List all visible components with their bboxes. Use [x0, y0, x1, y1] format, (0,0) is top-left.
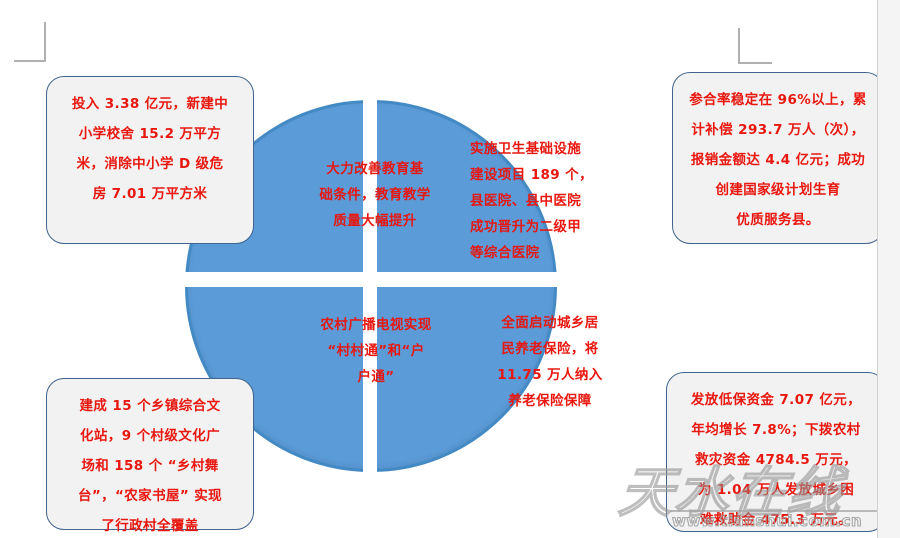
- quadrant-broadcast-text: 农村广播电视实现 “村村通”和“户 户通”: [288, 312, 464, 390]
- quadrant-education-text: 大力改善教育基 础条件，教育教学 质量大幅提升: [290, 156, 460, 234]
- callout-culture-facilities: 建成 15 个乡镇综合文 化站，9 个村级文化广 场和 158 个 “乡村舞 台…: [46, 378, 254, 530]
- margin-corner-mark-top-right: [738, 28, 782, 64]
- quadrant-health-text: 实施卫生基础设施 建设项目 189 个， 县医院、县中医院 成功晋升为二级甲 等…: [470, 136, 630, 266]
- margin-corner-mark-top-left: [14, 22, 58, 62]
- quadrant-pension-text: 全面启动城乡居 民养老保险，将 11.75 万人纳入 养老保险保障: [470, 310, 630, 414]
- document-page: 大力改善教育基 础条件，教育教学 质量大幅提升 实施卫生基础设施 建设项目 18…: [0, 0, 900, 538]
- callout-social-welfare: 发放低保资金 7.07 亿元， 年均增长 7.8%；下拨农村 救灾资金 4784…: [666, 372, 886, 532]
- callout-education-investment: 投入 3.38 亿元，新建中 小学校舍 15.2 万平方 米，消除中小学 D 级…: [46, 76, 254, 244]
- callout-health-insurance: 参合率稳定在 96%以上，累 计补偿 293.7 万人（次）， 报销金额达 4.…: [672, 72, 884, 244]
- page-outside-area: [878, 0, 900, 538]
- divider-horizontal: [182, 272, 560, 287]
